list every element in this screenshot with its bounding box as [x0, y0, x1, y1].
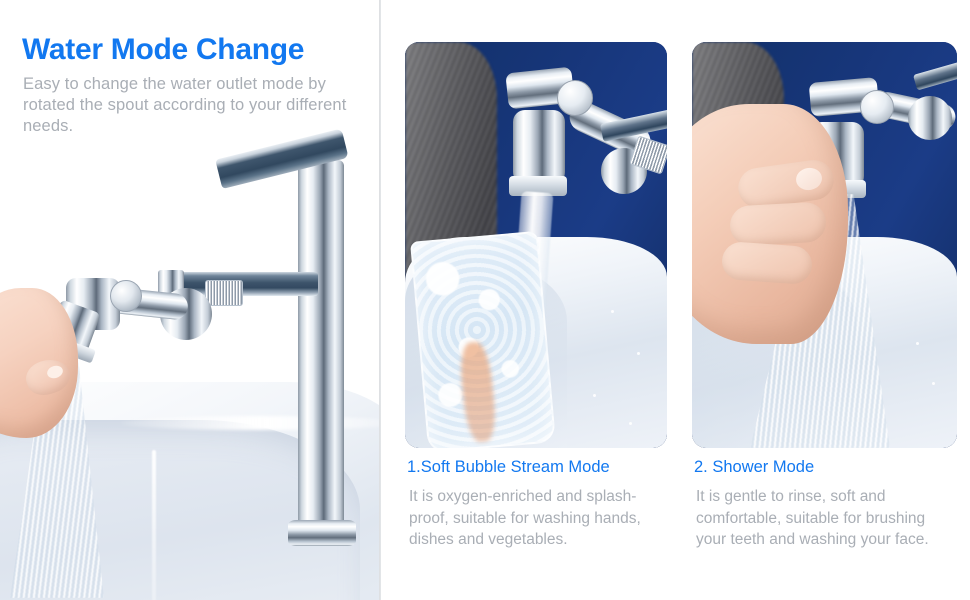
- section-divider: [379, 0, 381, 600]
- faucet-base: [288, 520, 356, 546]
- extender-head-housing: [513, 110, 565, 184]
- panel-1-caption-title: 1.Soft Bubble Stream Mode: [407, 458, 610, 477]
- product-feature-banner: Water Mode Change Easy to change the wat…: [0, 0, 970, 600]
- panel-2-photo: [692, 42, 957, 448]
- extender-end-cap: [110, 280, 142, 312]
- extender-end-cap: [557, 80, 593, 116]
- left-hero-section: Water Mode Change Easy to change the wat…: [0, 0, 381, 600]
- extender-end-cap: [860, 90, 894, 124]
- water-sparkle-icon: [637, 352, 640, 355]
- panel-2-caption-body: It is gentle to rinse, soft and comforta…: [696, 486, 948, 551]
- water-sparkle-icon: [593, 394, 596, 397]
- faucet-body: [298, 160, 344, 540]
- swivel-joint-ball: [908, 96, 952, 140]
- panel-shower-mode: 2. Shower Mode It is gentle to rinse, so…: [690, 0, 958, 600]
- water-sparkle-icon: [611, 310, 614, 313]
- hero-product-photo: [0, 120, 381, 600]
- water-sparkle-icon: [932, 382, 935, 385]
- panel-1-caption-body: It is oxygen-enriched and splash-proof, …: [409, 486, 661, 551]
- water-sparkle-icon: [916, 342, 919, 345]
- knurled-coupler: [205, 280, 243, 306]
- water-sparkle-icon: [629, 422, 632, 425]
- finger: [729, 202, 827, 247]
- panel-1-photo: [405, 42, 667, 448]
- water-drip-streak: [152, 450, 156, 600]
- finger: [721, 241, 813, 285]
- panel-2-caption-title: 2. Shower Mode: [694, 458, 814, 477]
- page-title: Water Mode Change: [22, 33, 304, 67]
- panel-soft-bubble-stream: 1.Soft Bubble Stream Mode It is oxygen-e…: [403, 0, 669, 600]
